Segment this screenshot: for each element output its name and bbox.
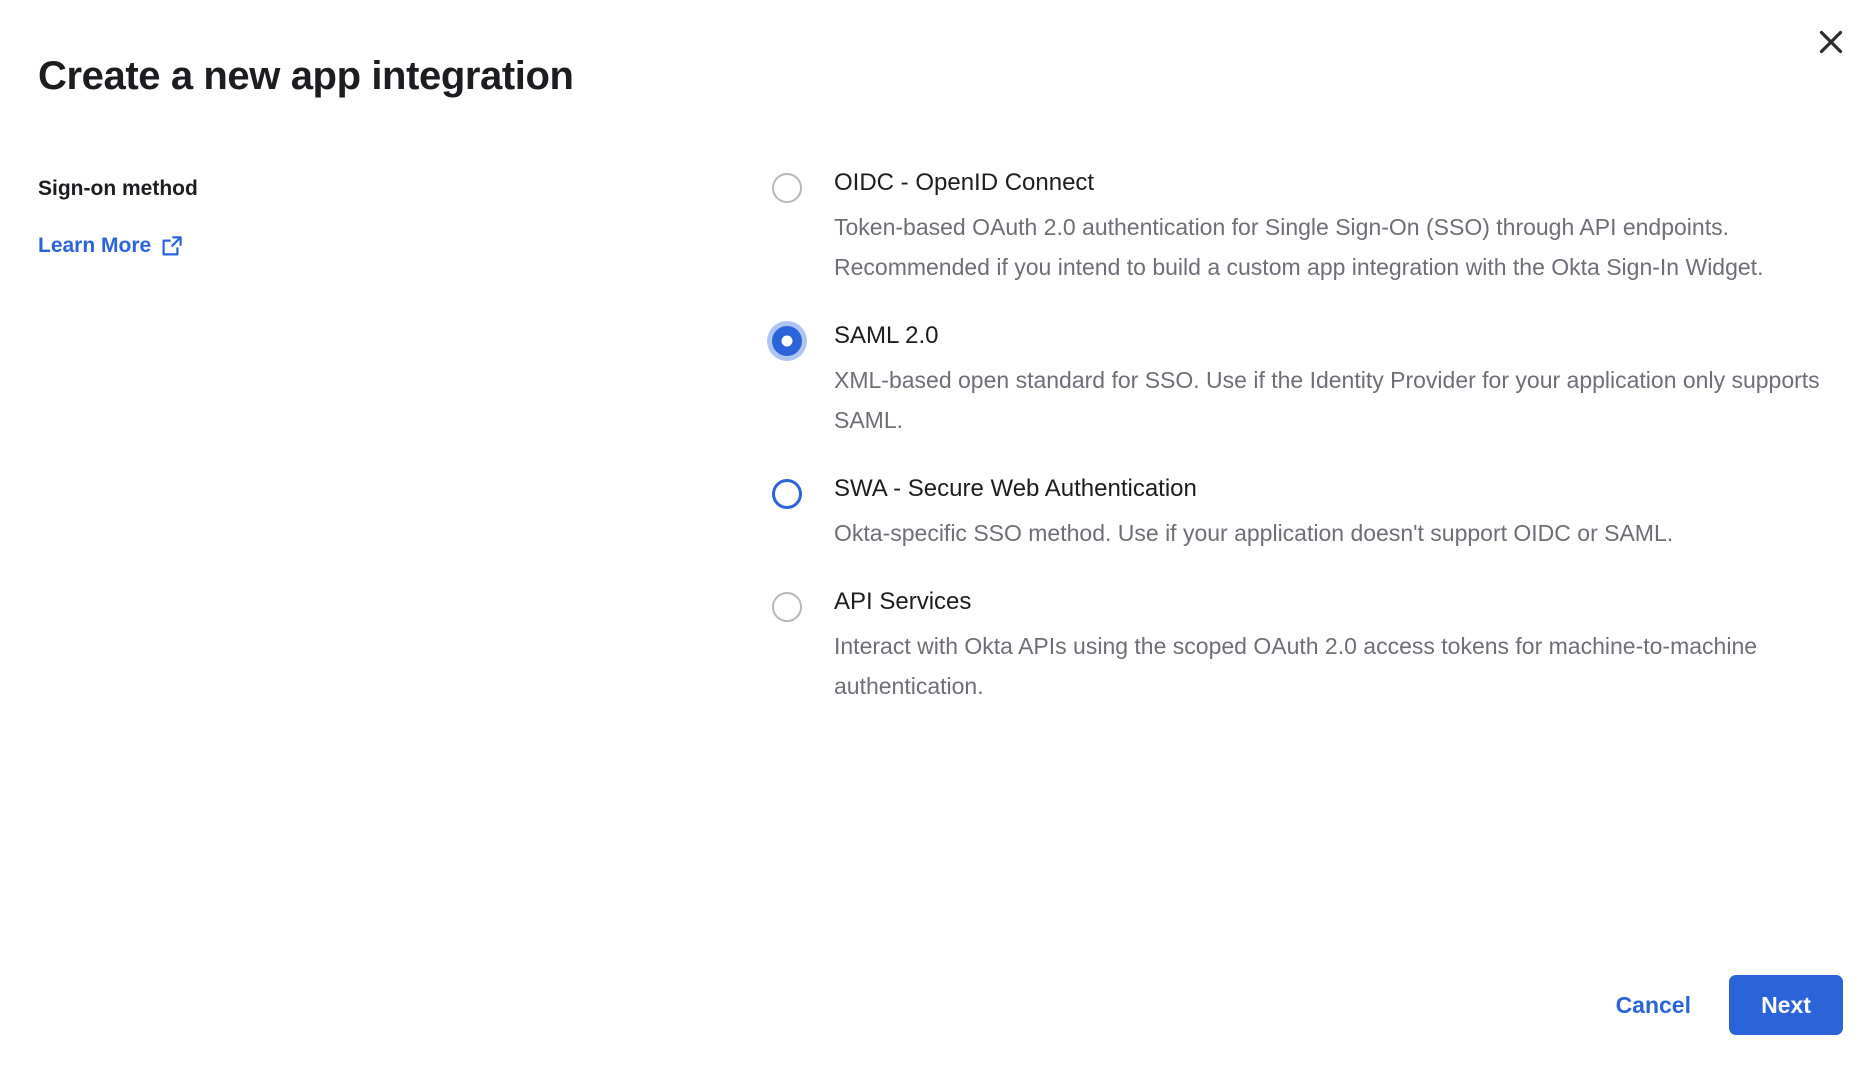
radio-button-oidc[interactable]: [772, 173, 802, 203]
page-title: Create a new app integration: [38, 51, 574, 101]
sign-on-method-radio-group: OIDC - OpenID Connect Token-based OAuth …: [772, 168, 1837, 706]
sidebar: Sign-on method Learn More: [38, 175, 598, 260]
radio-option-api-services-title: API Services: [834, 587, 1837, 617]
radio-button-swa[interactable]: [772, 479, 802, 509]
close-icon-glyph: [1817, 28, 1845, 56]
radio-option-swa[interactable]: SWA - Secure Web Authentication Okta-spe…: [772, 474, 1837, 553]
radio-option-oidc[interactable]: OIDC - OpenID Connect Token-based OAuth …: [772, 168, 1837, 287]
learn-more-link[interactable]: Learn More: [38, 232, 183, 260]
radio-option-oidc-title: OIDC - OpenID Connect: [834, 168, 1837, 198]
radio-option-saml-title: SAML 2.0: [834, 321, 1837, 351]
radio-option-swa-title: SWA - Secure Web Authentication: [834, 474, 1837, 504]
next-button[interactable]: Next: [1729, 975, 1843, 1035]
dialog-footer: Cancel Next: [1612, 975, 1843, 1035]
cancel-button[interactable]: Cancel: [1612, 984, 1695, 1026]
radio-button-saml[interactable]: [772, 326, 802, 356]
radio-option-saml[interactable]: SAML 2.0 XML-based open standard for SSO…: [772, 321, 1837, 440]
radio-option-api-services[interactable]: API Services Interact with Okta APIs usi…: [772, 587, 1837, 706]
sign-on-method-label: Sign-on method: [38, 175, 598, 203]
create-app-integration-dialog: Create a new app integration Sign-on met…: [0, 0, 1873, 1075]
close-icon[interactable]: [1811, 22, 1851, 62]
radio-button-api-services[interactable]: [772, 592, 802, 622]
learn-more-label: Learn More: [38, 232, 151, 260]
radio-option-saml-description: XML-based open standard for SSO. Use if …: [834, 360, 1837, 440]
external-link-icon: [161, 235, 183, 257]
external-link-icon-glyph: [161, 235, 183, 257]
radio-option-api-services-description: Interact with Okta APIs using the scoped…: [834, 626, 1837, 706]
radio-option-oidc-description: Token-based OAuth 2.0 authentication for…: [834, 207, 1837, 287]
radio-option-swa-description: Okta-specific SSO method. Use if your ap…: [834, 513, 1837, 553]
